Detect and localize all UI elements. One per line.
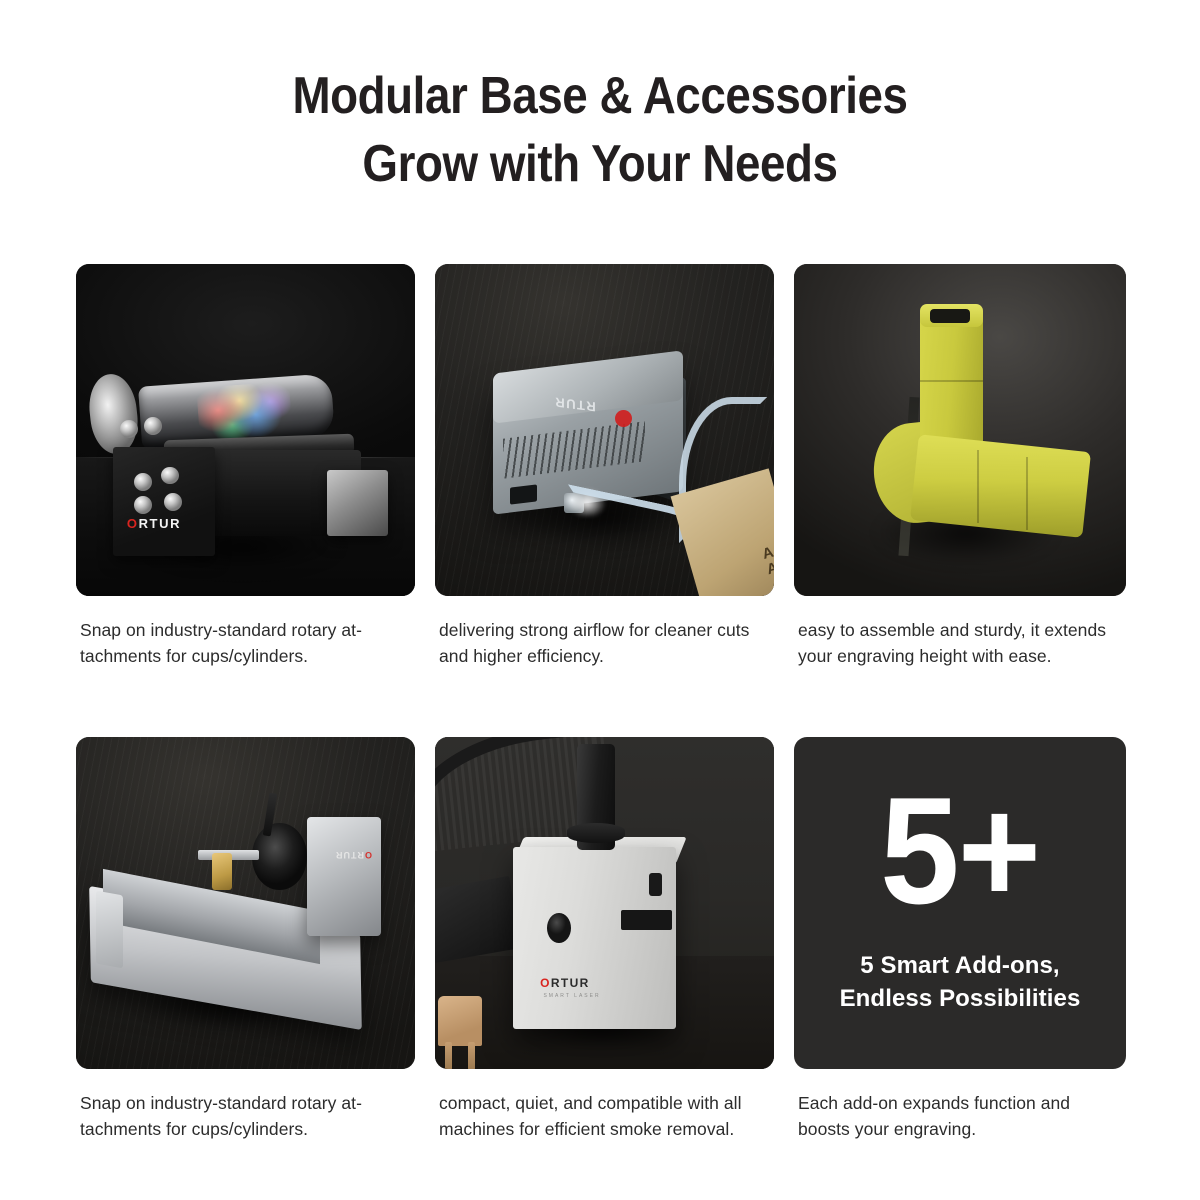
caption-line-1: Snap on industry-standard rotary at- (80, 617, 415, 643)
card-caption: easy to assemble and sturdy, it extends … (794, 617, 1126, 669)
product-image-riser-legs[interactable] (794, 264, 1126, 596)
stepper-motor (327, 470, 388, 536)
brand-logo-ortur: ORTUR (127, 516, 181, 531)
roller-wheel (134, 473, 152, 491)
product-image-rotary-roller[interactable]: ORTUR (76, 264, 415, 596)
brand-logo-ortur: ORTUR (335, 850, 372, 860)
accessory-card-riser-legs[interactable]: easy to assemble and sturdy, it extends … (794, 264, 1126, 669)
engraved-artwork (197, 382, 293, 441)
card-caption: compact, quiet, and compatible with all … (435, 1090, 774, 1142)
page-title: Modular Base & Accessories Grow with You… (72, 62, 1128, 198)
brand-tagline: SMART LASER (543, 993, 600, 999)
bottle-cap (86, 371, 142, 455)
caption-line-1: delivering strong airflow for cleaner cu… (439, 617, 774, 643)
page-title-line-1: Modular Base & Accessories (72, 62, 1128, 130)
exhaust-pipe-collar (567, 823, 625, 843)
tailstock (96, 891, 123, 969)
scene-background (794, 264, 1126, 596)
accessory-card-smoke-purifier[interactable]: ORTUR SMART LASER compact, quiet, and co… (435, 737, 774, 1142)
caption-line-1: Snap on industry-standard rotary at- (80, 1090, 415, 1116)
accessory-card-chuck-rotary[interactable]: ORTUR Snap on industry-standard rotary a… (76, 737, 415, 1142)
card-caption: Snap on industry-standard rotary at- tac… (76, 617, 415, 669)
caption-line-2: tachments for cups/cylinders. (80, 1116, 415, 1142)
scene-background: ORTUR (76, 737, 415, 1069)
accessory-grid: ORTUR Snap on industry-standard rotary a… (76, 264, 1125, 1142)
scene-background: RTUR AA (435, 264, 774, 596)
filter-slot (621, 910, 672, 930)
headstock: ORTUR (307, 817, 382, 937)
module-seam (1026, 457, 1028, 530)
side-latch (649, 873, 663, 896)
product-image-smoke-purifier[interactable]: ORTUR SMART LASER (435, 737, 774, 1069)
wood-engraving-text: AA (761, 544, 774, 578)
wooden-figurine (438, 996, 482, 1046)
module-seam (977, 450, 979, 523)
stat-number: 5+ (880, 769, 1039, 933)
brand-logo-ortur: ORTUR (540, 976, 590, 990)
card-caption: Snap on industry-standard rotary at- tac… (76, 1090, 415, 1142)
caption-line-2: your engraving height with ease. (798, 643, 1126, 669)
roller-wheel (144, 417, 162, 435)
card-caption: Each add-on expands function and boosts … (794, 1090, 1126, 1142)
accessory-card-rotary-roller[interactable]: ORTUR Snap on industry-standard rotary a… (76, 264, 415, 669)
stat-subtitle-line-1: 5 Smart Add-ons, (840, 949, 1081, 982)
scene-background: ORTUR (76, 264, 415, 596)
stat-card: 5+ 5 Smart Add-ons, Endless Possibilitie… (794, 737, 1126, 1069)
accessory-card-stat-add-ons[interactable]: 5+ 5 Smart Add-ons, Endless Possibilitie… (794, 737, 1126, 1142)
caption-line-1: easy to assemble and sturdy, it extends (798, 617, 1126, 643)
page-title-line-2: Grow with Your Needs (72, 130, 1128, 198)
promo-page: Modular Base & Accessories Grow with You… (0, 0, 1200, 1200)
caption-line-1: compact, quiet, and compatible with all (439, 1090, 774, 1116)
card-caption: delivering strong airflow for cleaner cu… (435, 617, 774, 669)
stat-subtitle-line-2: Endless Possibilities (840, 982, 1081, 1015)
module-seam (920, 380, 983, 382)
accessory-card-air-assist-pump[interactable]: RTUR AA delivering strong airflow for cl… (435, 264, 774, 669)
product-image-chuck-rotary[interactable]: ORTUR (76, 737, 415, 1069)
riser-leg-opening (930, 309, 970, 323)
scene-background: ORTUR SMART LASER (435, 737, 774, 1069)
chuck (252, 823, 306, 889)
speed-knob[interactable] (547, 913, 571, 943)
stat-subtitle: 5 Smart Add-ons, Endless Possibilities (840, 949, 1081, 1015)
caption-line-2: machines for efficient smoke removal. (439, 1116, 774, 1142)
brass-workpiece (212, 853, 232, 890)
caption-line-2: tachments for cups/cylinders. (80, 643, 415, 669)
caption-line-1: Each add-on expands function and (798, 1090, 1126, 1116)
caption-line-2: and higher efficiency. (439, 643, 774, 669)
caption-line-2: boosts your engraving. (798, 1116, 1126, 1142)
brand-mark-dot (615, 410, 632, 427)
product-image-air-assist-pump[interactable]: RTUR AA (435, 264, 774, 596)
